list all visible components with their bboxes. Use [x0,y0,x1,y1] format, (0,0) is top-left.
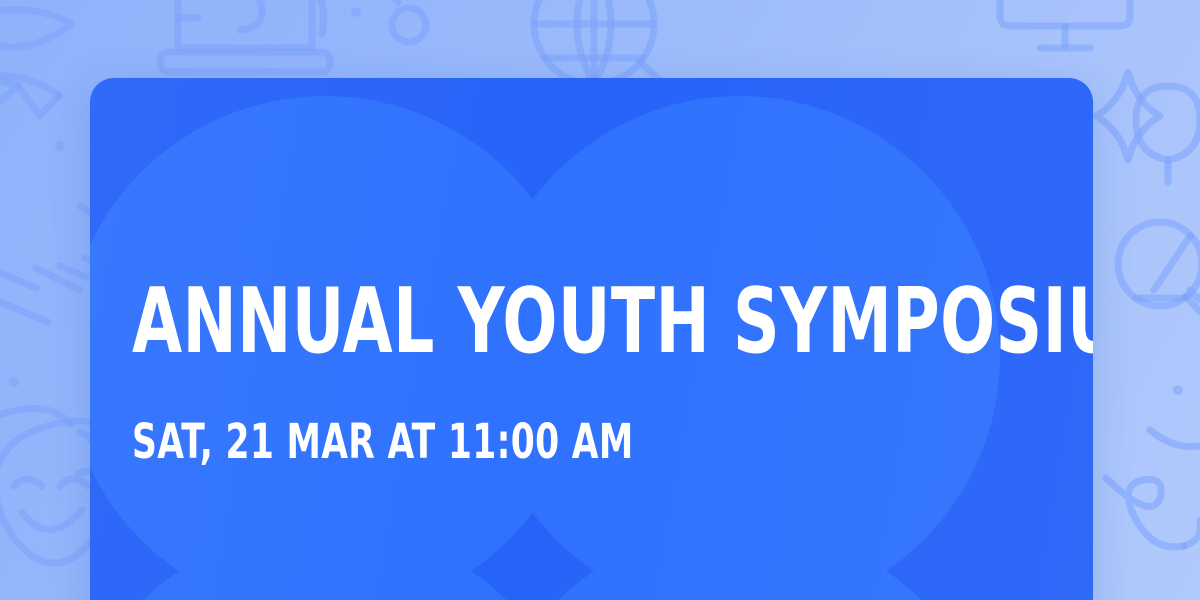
globe-icon [534,0,668,88]
event-datetime: SAT, 21 MAR AT 11:00 AM [132,415,634,469]
ribbon-icon [1106,430,1200,547]
flag-icon [0,0,72,90]
pencil-stroke-icon [0,270,48,322]
laptop-icon [160,0,330,72]
event-poster: ANNUAL YOUTH SYMPOSIUM SAT, 21 MAR AT 11… [0,0,1200,600]
event-card: ANNUAL YOUTH SYMPOSIUM SAT, 21 MAR AT 11… [90,78,1093,600]
event-title: ANNUAL YOUTH SYMPOSIUM [132,274,1093,370]
sparkle-icon [1096,72,1160,160]
ring-icon [388,0,426,42]
card-content: ANNUAL YOUTH SYMPOSIUM SAT, 21 MAR AT 11… [132,78,1053,600]
balloon-icon [1136,86,1200,182]
microphone-icon [1118,222,1200,312]
screen-icon [1000,0,1130,48]
bunting-icon [0,74,60,116]
